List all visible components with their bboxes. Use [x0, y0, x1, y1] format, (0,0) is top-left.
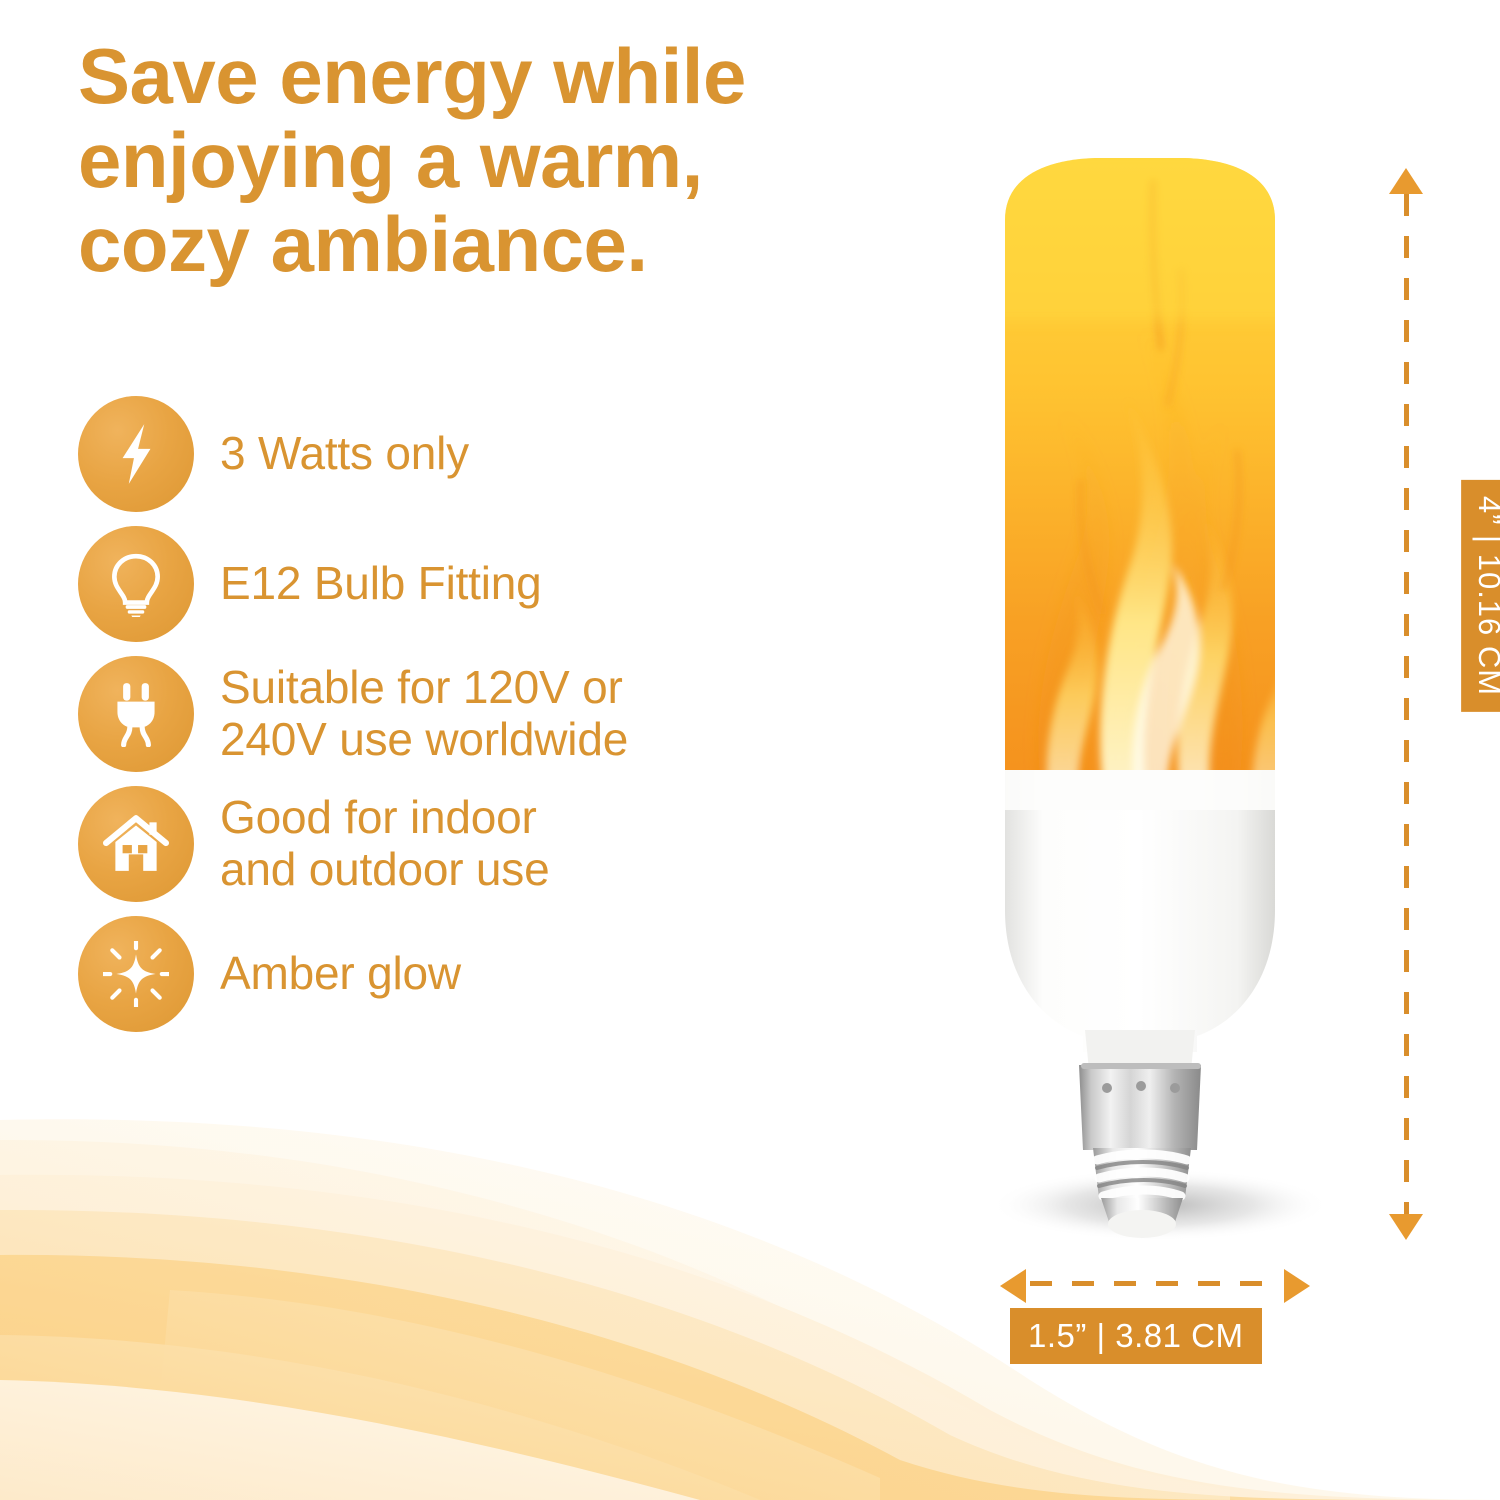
arrow-down-icon — [1389, 1214, 1423, 1240]
headline-line-2: enjoying a warm, — [78, 118, 958, 202]
headline-line-3: cozy ambiance. — [78, 202, 958, 286]
bulb-metal-collar — [1079, 1063, 1201, 1150]
feature-item-glow: Amber glow — [78, 916, 938, 1032]
feature-text-usage: Good for indoor and outdoor use — [220, 792, 550, 895]
feature-text-watts: 3 Watts only — [220, 428, 469, 480]
feature-line: Amber glow — [220, 948, 461, 1000]
lightning-bolt-icon — [78, 396, 194, 512]
feature-item-voltage: Suitable for 120V or 240V use worldwide — [78, 656, 938, 772]
arrow-up-icon — [1389, 168, 1423, 194]
bulb-housing — [1005, 770, 1275, 1052]
arrow-left-icon — [1000, 1269, 1026, 1303]
feature-item-watts: 3 Watts only — [78, 396, 938, 512]
height-dimension-label: 4” | 10.16 CM — [1461, 480, 1500, 712]
house-icon — [78, 786, 194, 902]
width-dimension-indicator — [1000, 1262, 1310, 1308]
flame-bulb-product-image — [985, 150, 1335, 1260]
feature-list: 3 Watts only E12 Bulb Fitting — [78, 396, 938, 1046]
feature-text-glow: Amber glow — [220, 948, 461, 1000]
arrow-right-icon — [1284, 1269, 1310, 1303]
starburst-glow-icon — [78, 916, 194, 1032]
dashed-horizontal-line — [1030, 1281, 1280, 1286]
flame-diffuser — [985, 150, 1335, 810]
feature-line: 3 Watts only — [220, 428, 469, 480]
width-dimension-label: 1.5” | 3.81 CM — [1010, 1308, 1262, 1364]
feature-line: E12 Bulb Fitting — [220, 558, 542, 610]
feature-line: Good for indoor — [220, 792, 550, 844]
feature-text-voltage: Suitable for 120V or 240V use worldwide — [220, 662, 628, 765]
dashed-vertical-line — [1404, 194, 1409, 1214]
power-plug-icon — [78, 656, 194, 772]
feature-line: Suitable for 120V or — [220, 662, 628, 714]
feature-item-fitting: E12 Bulb Fitting — [78, 526, 938, 642]
feature-text-fitting: E12 Bulb Fitting — [220, 558, 542, 610]
height-dimension-indicator: 4” | 10.16 CM — [1380, 168, 1432, 1240]
feature-line: and outdoor use — [220, 844, 550, 896]
infographic-canvas: Save energy while enjoying a warm, cozy … — [0, 0, 1500, 1500]
feature-line: 240V use worldwide — [220, 714, 628, 766]
feature-item-usage: Good for indoor and outdoor use — [78, 786, 938, 902]
page-title: Save energy while enjoying a warm, cozy … — [78, 34, 958, 287]
headline-line-1: Save energy while — [78, 34, 958, 118]
light-bulb-icon — [78, 526, 194, 642]
